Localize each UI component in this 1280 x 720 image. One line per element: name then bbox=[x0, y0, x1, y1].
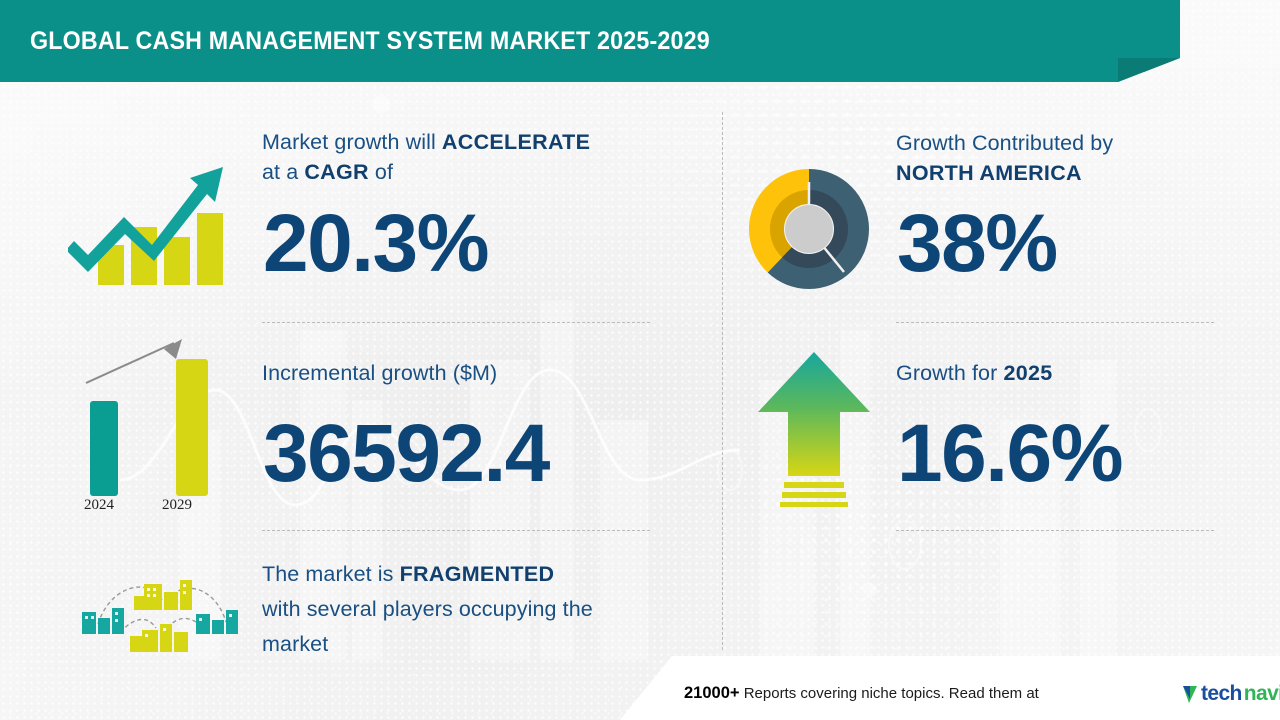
year-growth-label: Growth for 2025 bbox=[896, 358, 1052, 388]
growth-bar-chart-arrow-icon bbox=[68, 145, 238, 290]
column-divider bbox=[722, 112, 723, 650]
fragmentation-line2: with several players occupying the bbox=[262, 597, 593, 621]
reports-count: 21000+ bbox=[684, 684, 740, 702]
year-growth-value: 16.6% bbox=[897, 413, 1122, 495]
city-network-icon bbox=[76, 566, 244, 654]
bar-year-label-2029: 2029 bbox=[162, 497, 192, 514]
year-growth-label-bold: 2025 bbox=[1003, 361, 1052, 385]
divider-right-2 bbox=[896, 530, 1214, 531]
cagr-label: Market growth will ACCELERATE at a CAGR … bbox=[262, 127, 662, 187]
bar-year-label-2024: 2024 bbox=[84, 497, 114, 514]
cagr-value: 20.3% bbox=[263, 203, 488, 285]
page-title: GLOBAL CASH MANAGEMENT SYSTEM MARKET 202… bbox=[30, 27, 710, 56]
fragmentation-bold: FRAGMENTED bbox=[400, 562, 555, 586]
region-value: 38% bbox=[897, 203, 1057, 285]
fragmentation-line1-plain: The market is bbox=[262, 562, 400, 586]
cagr-label-line2-tail: of bbox=[369, 160, 393, 184]
footer-message: Reports covering niche topics. Read them… bbox=[744, 685, 1039, 702]
cagr-label-line1-plain: Market growth will bbox=[262, 130, 442, 154]
logo-text-tech: tech bbox=[1201, 682, 1242, 706]
technavio-logo[interactable]: technavio™ bbox=[1182, 682, 1280, 706]
region-label-bold: NORTH AMERICA bbox=[896, 161, 1082, 185]
fragmentation-text: The market is FRAGMENTED with several pl… bbox=[262, 557, 682, 662]
up-arrow-gradient-icon bbox=[752, 348, 876, 512]
infographic-page: GLOBAL CASH MANAGEMENT SYSTEM MARKET 202… bbox=[0, 0, 1280, 720]
region-label-plain: Growth Contributed by bbox=[896, 131, 1113, 155]
logo-text-navio: navio bbox=[1244, 682, 1280, 706]
year-growth-label-plain: Growth for bbox=[896, 361, 1003, 385]
cagr-label-line2-plain: at a bbox=[262, 160, 304, 184]
divider-left-1 bbox=[262, 322, 650, 323]
divider-right-1 bbox=[896, 322, 1214, 323]
two-bar-comparison-icon bbox=[78, 335, 238, 510]
fragmentation-line3: market bbox=[262, 632, 328, 656]
cagr-label-cagr: CAGR bbox=[304, 160, 369, 184]
donut-chart-icon bbox=[748, 168, 870, 290]
divider-left-2 bbox=[262, 530, 650, 531]
incremental-growth-value: 36592.4 bbox=[263, 413, 549, 495]
incremental-growth-label: Incremental growth ($M) bbox=[262, 358, 497, 388]
footer-text: 21000+ Reports covering niche topics. Re… bbox=[684, 684, 1039, 703]
technavio-mark-icon bbox=[1182, 685, 1198, 704]
cagr-label-accelerate: ACCELERATE bbox=[442, 130, 590, 154]
region-label: Growth Contributed by NORTH AMERICA bbox=[896, 128, 1216, 188]
